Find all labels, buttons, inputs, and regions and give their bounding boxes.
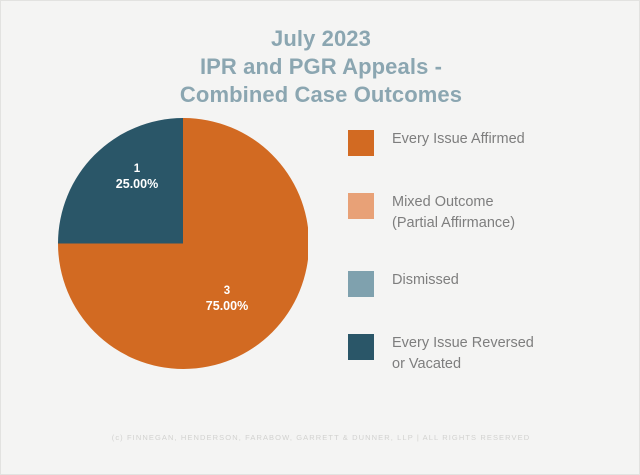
legend-item-dismissed[interactable]: Dismissed [348,270,618,297]
legend-label-line: (Partial Affirmance) [392,213,515,234]
legend-swatch-dismissed [348,271,374,297]
chart-title-line-2: IPR and PGR Appeals - [1,53,640,81]
chart-title: July 2023 IPR and PGR Appeals - Combined… [1,25,640,109]
pie-slice-every-issue-reversed-or-vacated[interactable] [58,118,183,244]
legend-swatch-mixed-outcome [348,193,374,219]
legend-item-mixed-outcome[interactable]: Mixed Outcome (Partial Affirmance) [348,192,618,234]
chart-title-line-3: Combined Case Outcomes [1,81,640,109]
chart-legend: Every Issue Affirmed Mixed Outcome (Part… [348,129,618,375]
pie-plot-area: 1 25.00% 3 75.00% [58,118,308,369]
pie-chart-card: July 2023 IPR and PGR Appeals - Combined… [0,0,640,475]
legend-label-every-issue-affirmed: Every Issue Affirmed [392,129,525,150]
legend-label-every-issue-reversed: Every Issue Reversed or Vacated [392,333,534,375]
legend-label-line: Mixed Outcome [392,192,515,213]
legend-label-line: Every Issue Affirmed [392,129,525,150]
legend-swatch-every-issue-affirmed [348,130,374,156]
legend-label-line: Every Issue Reversed [392,333,534,354]
legend-label-line: Dismissed [392,270,459,291]
pie-svg [58,118,308,369]
legend-label-mixed-outcome: Mixed Outcome (Partial Affirmance) [392,192,515,234]
chart-title-line-1: July 2023 [1,25,640,53]
legend-swatch-every-issue-reversed [348,334,374,360]
legend-label-line: or Vacated [392,354,534,375]
legend-item-every-issue-reversed[interactable]: Every Issue Reversed or Vacated [348,333,618,375]
copyright-footer: (c) FINNEGAN, HENDERSON, FARABOW, GARRET… [1,433,640,442]
legend-item-every-issue-affirmed[interactable]: Every Issue Affirmed [348,129,618,156]
legend-label-dismissed: Dismissed [392,270,459,291]
